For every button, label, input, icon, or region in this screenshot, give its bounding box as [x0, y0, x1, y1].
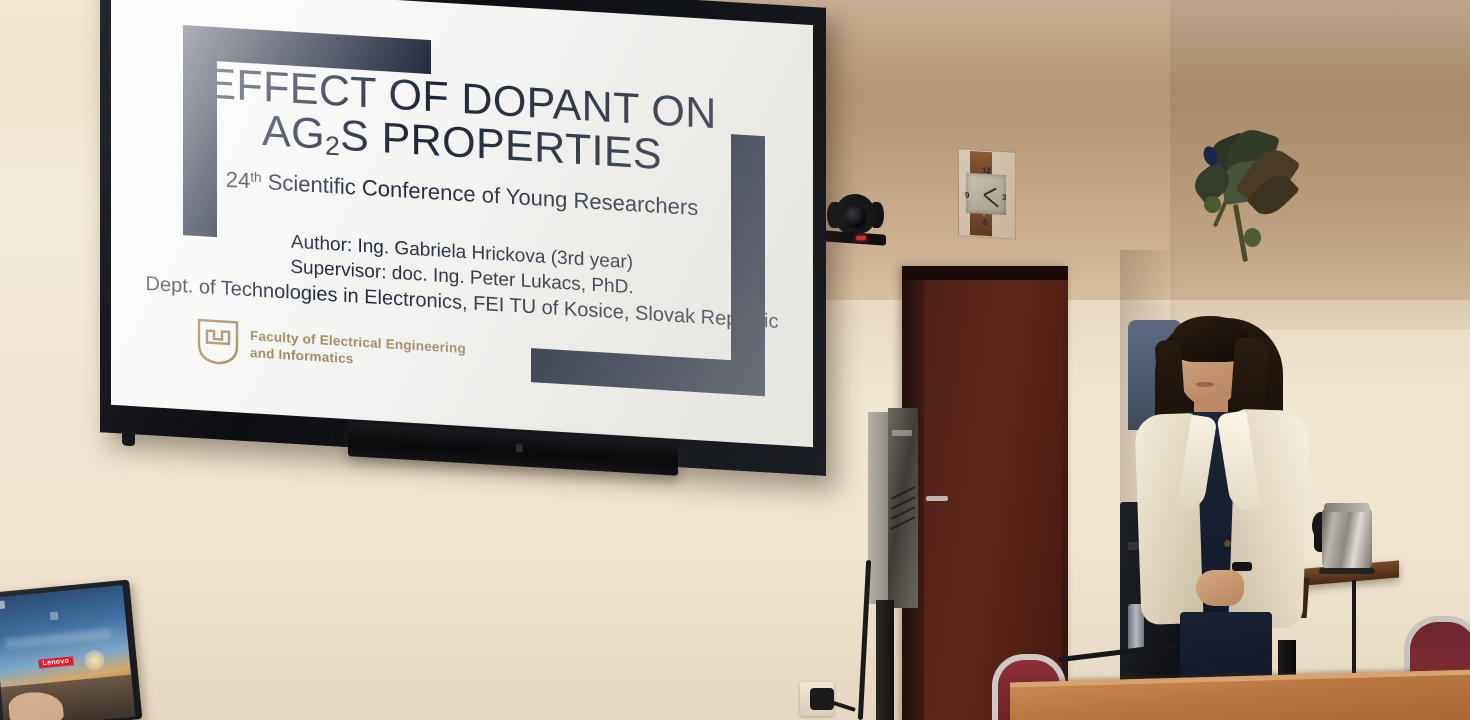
- wallpaper-cloud: [4, 628, 112, 648]
- wallpaper-sun: [84, 649, 106, 671]
- presenter: [1120, 312, 1350, 720]
- wall-clock: 12 9 3 6: [958, 148, 1016, 240]
- desktop-icon[interactable]: [50, 611, 59, 620]
- door[interactable]: [902, 266, 1068, 720]
- slide-text-block: EFFECT OF DOPANT ON AG2S PROPERTIES 24th…: [111, 57, 813, 338]
- power-plug: [810, 688, 834, 710]
- presenter-blazer-button: [1224, 540, 1231, 547]
- conference-ordinal-suffix: th: [250, 169, 261, 185]
- flower-bud-green: [1204, 196, 1221, 213]
- power-outlet[interactable]: [800, 682, 834, 716]
- door-handle[interactable]: [926, 496, 948, 501]
- clock-number-12: 12: [982, 166, 991, 176]
- fei-shield-icon: [197, 318, 239, 367]
- presenter-wristwatch: [1232, 562, 1252, 571]
- soundbar-indicator: [516, 444, 523, 452]
- door-top-shadow: [902, 266, 1068, 280]
- slide-title-ag: AG: [262, 107, 325, 159]
- sanitizer-dispenser[interactable]: [868, 408, 918, 608]
- presenter-mouth: [1196, 382, 1214, 387]
- display-screen: EFFECT OF DOPANT ON AG2S PROPERTIES 24th…: [111, 0, 813, 447]
- dispenser-stand-post: [876, 600, 894, 720]
- dispenser-logo: [892, 430, 912, 436]
- ptz-conference-camera: [826, 188, 888, 250]
- wall-mounted-display[interactable]: EFFECT OF DOPANT ON AG2S PROPERTIES 24th…: [100, 0, 826, 476]
- clock-number-9: 9: [965, 191, 969, 200]
- camera-lens: [844, 206, 866, 228]
- flower-bud-green: [1244, 228, 1261, 247]
- conference-room-scene: 12 9 3 6: [0, 0, 1470, 720]
- display-bottom-mount: [122, 431, 135, 446]
- clock-number-6: 6: [983, 218, 987, 227]
- laptop-screen[interactable]: Lenovo: [0, 585, 135, 720]
- conference-number: 24: [226, 167, 250, 193]
- desktop-icon[interactable]: [0, 601, 5, 610]
- presentation-slide: EFFECT OF DOPANT ON AG2S PROPERTIES 24th…: [111, 0, 813, 447]
- camera-status-led: [856, 236, 866, 240]
- dried-flower-arrangement: [1186, 128, 1296, 268]
- dispenser-side-panel: [868, 412, 890, 604]
- faculty-name: Faculty of Electrical Engineering and In…: [250, 327, 466, 374]
- slide-title: EFFECT OF DOPANT ON AG2S PROPERTIES: [165, 60, 759, 186]
- laptop[interactable]: Lenovo: [0, 580, 142, 720]
- lenovo-logo: Lenovo: [38, 656, 73, 668]
- faculty-logo-block: Faculty of Electrical Engineering and In…: [197, 318, 466, 380]
- slide-title-subscript: 2: [325, 130, 340, 161]
- clock-number-3: 3: [1002, 193, 1006, 202]
- presenter-hands: [1196, 570, 1244, 606]
